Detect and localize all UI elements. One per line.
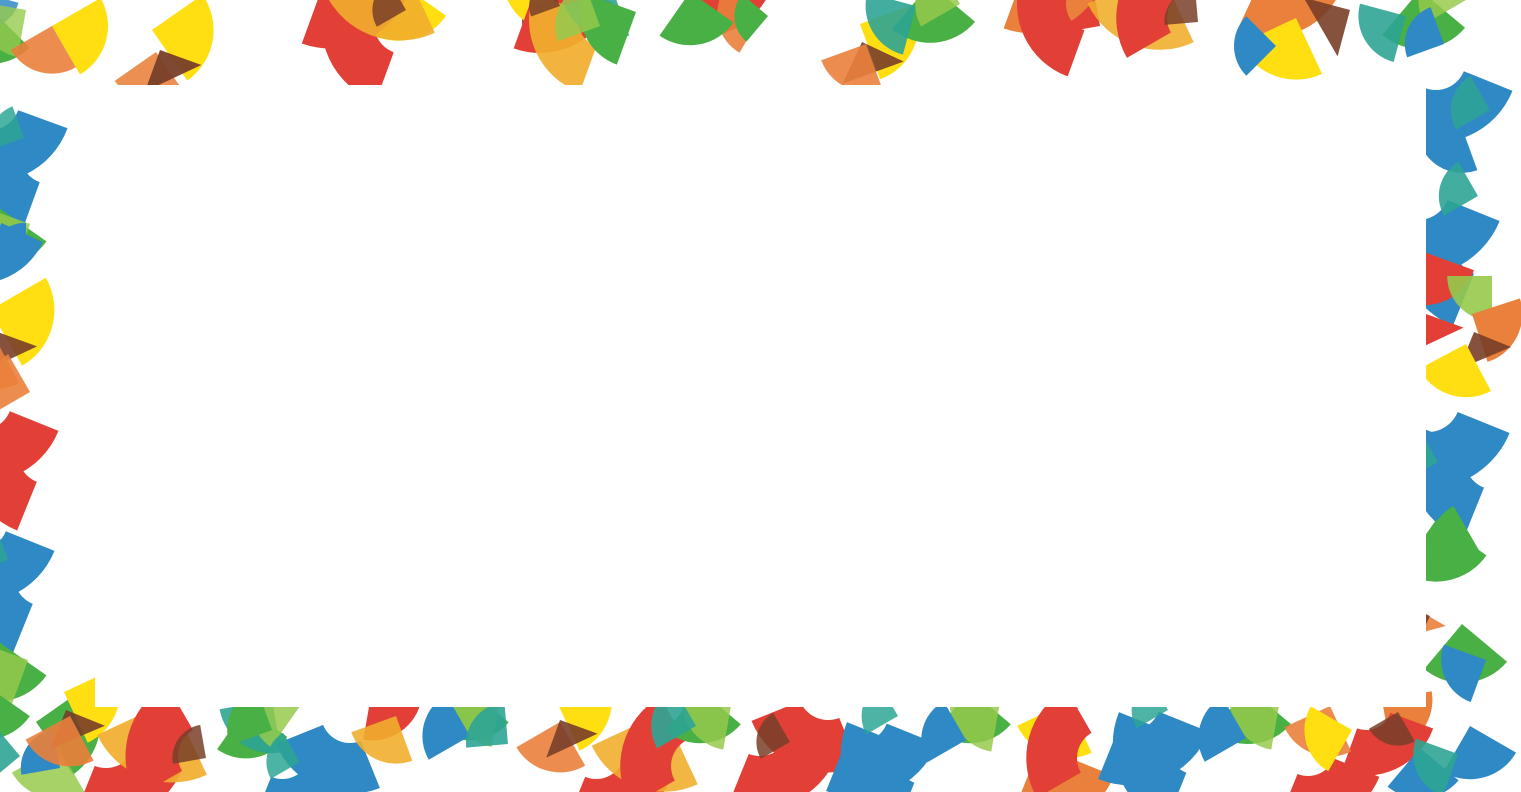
poster-canvas: MIGRANTI, LEGALITA' E PARITA’ DI GENERE … — [0, 0, 1521, 792]
white-content-panel — [95, 85, 1426, 707]
